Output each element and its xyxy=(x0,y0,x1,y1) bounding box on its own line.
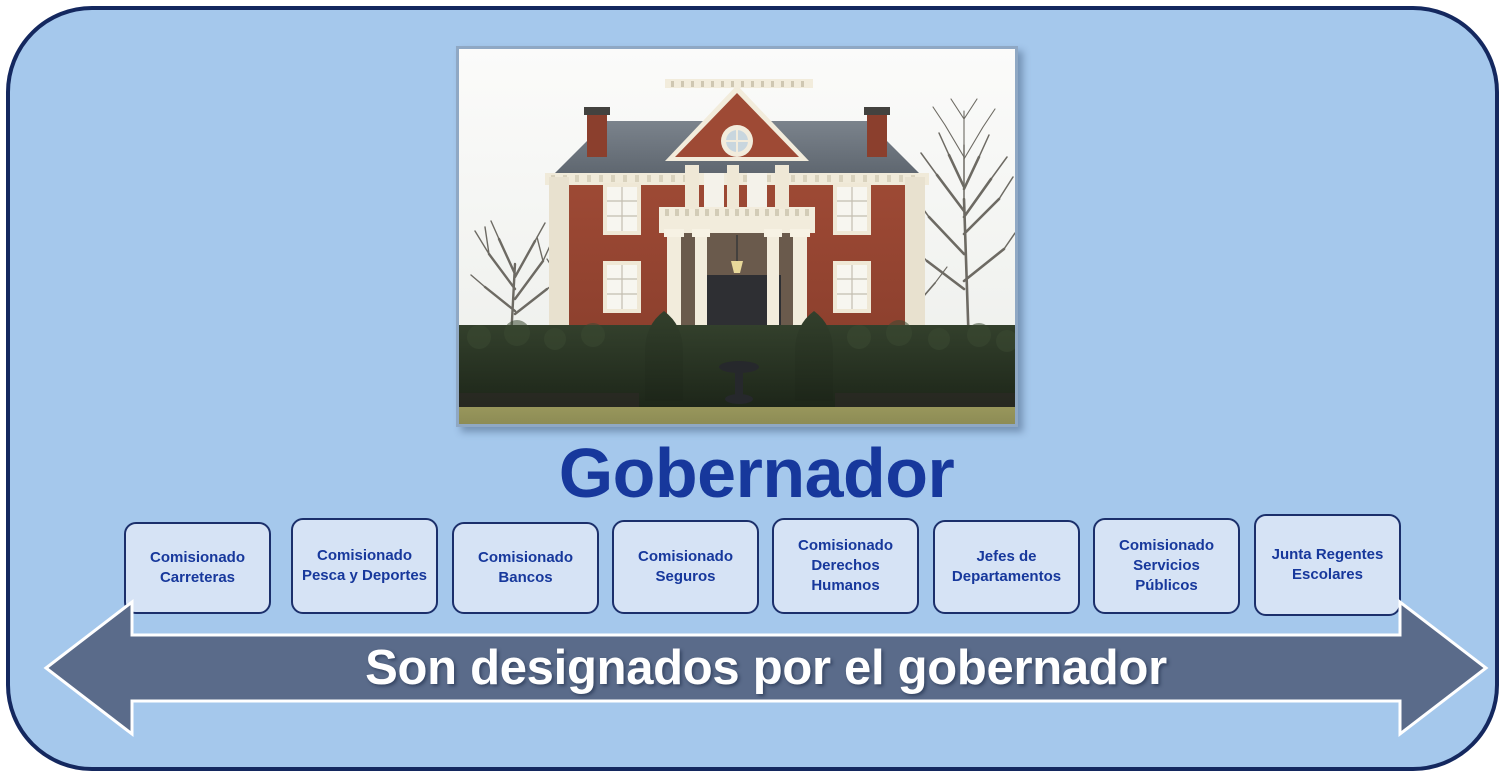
org-box-label: Comisionado Pesca y Deportes xyxy=(298,546,431,586)
slide-canvas: Gobernador Comisionado Carreteras Comisi… xyxy=(0,0,1511,777)
mansion-illustration xyxy=(459,49,1015,424)
org-box-label: Comisionado Servicios Públicos xyxy=(1100,536,1233,595)
org-box-label: Comisionado Bancos xyxy=(459,548,592,588)
window-2f-center-right xyxy=(747,173,767,207)
double-headed-arrow-shape xyxy=(36,598,1496,738)
org-box-label: Comisionado Seguros xyxy=(619,547,752,587)
window-2f-center-left xyxy=(704,173,724,207)
org-box-label: Comisionado Derechos Humanos xyxy=(779,536,912,595)
page-title: Gobernador xyxy=(10,438,1503,508)
rounded-panel: Gobernador Comisionado Carreteras Comisi… xyxy=(6,6,1499,771)
chimney-right xyxy=(867,111,887,157)
chimney-left xyxy=(587,111,607,157)
roof-cresting xyxy=(665,79,813,88)
pilaster-left xyxy=(549,177,569,349)
pilaster-right xyxy=(905,177,925,349)
org-box-label: Comisionado Carreteras xyxy=(131,548,264,588)
double-arrow-banner: Son designados por el gobernador xyxy=(36,598,1496,738)
org-box-label: Jefes de Departamentos xyxy=(940,547,1073,587)
governors-mansion-photo xyxy=(456,46,1018,427)
org-box-label: Junta Regentes Escolares xyxy=(1261,545,1394,585)
